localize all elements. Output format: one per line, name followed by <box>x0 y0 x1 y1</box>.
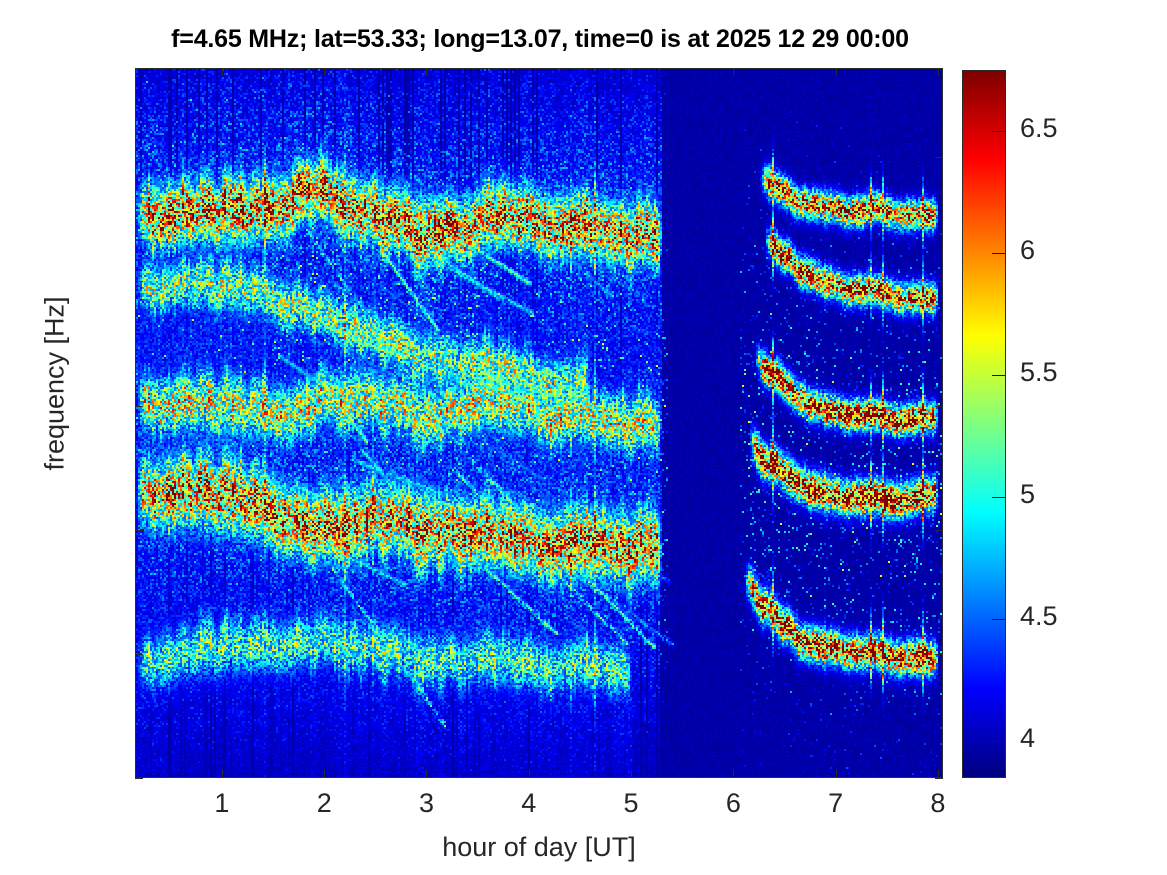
x-tick-mark <box>222 770 223 778</box>
x-tick-mark <box>631 68 632 76</box>
colorbar-tick-mark <box>992 253 1005 254</box>
y-tick-mark <box>135 281 143 282</box>
y-tick-mark <box>135 654 143 655</box>
x-tick-mark <box>938 770 939 778</box>
x-tick-mark <box>324 770 325 778</box>
spectrogram-axes[interactable] <box>135 68 943 778</box>
y-tick-mark <box>935 778 943 779</box>
x-tick-label: 8 <box>898 788 978 819</box>
x-tick-label: 6 <box>693 788 773 819</box>
colorbar-tick-label: 6.5 <box>1020 113 1058 144</box>
colorbar-tick-mark <box>992 619 1005 620</box>
x-tick-mark <box>324 68 325 76</box>
x-tick-mark <box>733 68 734 76</box>
y-tick-mark <box>135 530 143 531</box>
colorbar-gradient <box>963 71 1005 777</box>
figure-title: f=4.65 MHz; lat=53.33; long=13.07, time=… <box>0 25 1080 54</box>
colorbar-tick-mark <box>992 741 1005 742</box>
y-tick-mark <box>935 281 943 282</box>
x-axis-label: hour of day [UT] <box>135 832 943 863</box>
colorbar-tick-mark <box>992 375 1005 376</box>
colorbar-tick-mark <box>992 131 1005 132</box>
colorbar-tick-label: 5 <box>1020 479 1035 510</box>
colorbar[interactable] <box>962 70 1006 778</box>
x-tick-mark <box>222 68 223 76</box>
y-tick-mark <box>935 530 943 531</box>
x-tick-mark <box>631 770 632 778</box>
x-tick-mark <box>938 68 939 76</box>
y-tick-mark <box>935 406 943 407</box>
figure-canvas: f=4.65 MHz; lat=53.33; long=13.07, time=… <box>0 0 1167 875</box>
y-axis-label: frequency [Hz] <box>40 244 71 524</box>
colorbar-tick-mark <box>992 497 1005 498</box>
x-tick-mark <box>836 68 837 76</box>
x-tick-mark <box>836 770 837 778</box>
y-tick-mark <box>135 406 143 407</box>
colorbar-tick-label: 6 <box>1020 235 1035 266</box>
colorbar-tick-label: 5.5 <box>1020 357 1058 388</box>
y-tick-mark <box>935 157 943 158</box>
x-tick-label: 4 <box>489 788 569 819</box>
x-tick-mark <box>426 68 427 76</box>
x-tick-label: 2 <box>284 788 364 819</box>
y-tick-mark <box>935 654 943 655</box>
x-tick-label: 5 <box>591 788 671 819</box>
colorbar-tick-label: 4 <box>1020 723 1035 754</box>
x-tick-label: 3 <box>386 788 466 819</box>
x-tick-mark <box>529 68 530 76</box>
x-tick-label: 1 <box>182 788 262 819</box>
x-tick-mark <box>733 770 734 778</box>
spectrogram-image <box>136 69 943 778</box>
y-tick-mark <box>135 157 143 158</box>
x-tick-mark <box>529 770 530 778</box>
x-tick-label: 7 <box>796 788 876 819</box>
x-tick-mark <box>426 770 427 778</box>
colorbar-tick-label: 4.5 <box>1020 601 1058 632</box>
y-tick-mark <box>135 778 143 779</box>
